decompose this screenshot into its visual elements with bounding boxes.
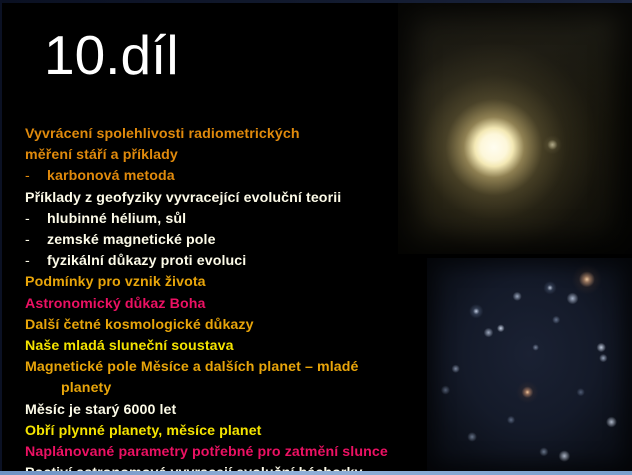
dash-bullet-icon: -	[25, 166, 47, 187]
bullet-line: Další četné kosmologické důkazy	[25, 315, 400, 336]
slide-top-border	[0, 0, 632, 3]
slide-title: 10.díl	[44, 24, 179, 86]
bullet-line: -zemské magnetické pole	[25, 230, 400, 251]
bullet-line-text: Měsíc je starý 6000 let	[25, 402, 176, 418]
bullet-line: měření stáří a příklady	[25, 145, 400, 166]
bullet-line-text: hlubinné hélium, sůl	[47, 211, 186, 227]
bullet-line-text: Vyvrácení spolehlivosti radiometrických	[25, 126, 300, 142]
bullet-line: Naše mladá sluneční soustava	[25, 336, 400, 357]
bullet-line-text: karbonová metoda	[47, 168, 175, 184]
bullet-line-text: Naplánované parametry potřebné pro zatmě…	[25, 444, 388, 460]
bullet-line-text: Obří plynné planety, měsíce planet	[25, 423, 262, 439]
bullet-line-text: zemské magnetické pole	[47, 232, 216, 248]
dash-bullet-icon: -	[25, 209, 47, 230]
presentation-slide: 10.díl Vyvrácení spolehlivosti radiometr…	[0, 0, 632, 475]
bullet-line-text: Další četné kosmologické důkazy	[25, 317, 254, 333]
star-field-photo	[427, 258, 632, 471]
bullet-line: Obří plynné planety, měsíce planet	[25, 421, 400, 442]
bullet-line-text: Naše mladá sluneční soustava	[25, 338, 234, 354]
bright-planet-photo	[398, 0, 632, 254]
slide-left-border	[0, 0, 2, 475]
bullet-line-text: Podmínky pro vznik života	[25, 274, 206, 290]
bullet-line: planety	[25, 378, 400, 399]
bullet-line-text: planety	[61, 380, 111, 396]
bullet-line-text: Astronomický důkaz Boha	[25, 296, 205, 312]
dash-bullet-icon: -	[25, 230, 47, 251]
bullet-line: -fyzikální důkazy proti evoluci	[25, 251, 400, 272]
bullet-line: Měsíc je starý 6000 let	[25, 400, 400, 421]
bullet-line: Naplánované parametry potřebné pro zatmě…	[25, 442, 400, 463]
bullet-line: Astronomický důkaz Boha	[25, 294, 400, 315]
bullet-line: Podmínky pro vznik života	[25, 272, 400, 293]
bullet-line-text: měření stáří a příklady	[25, 147, 178, 163]
bullet-line: -karbonová metoda	[25, 166, 400, 187]
bullet-line: Vyvrácení spolehlivosti radiometrických	[25, 124, 400, 145]
bullet-line: -hlubinné hélium, sůl	[25, 209, 400, 230]
dash-bullet-icon: -	[25, 251, 47, 272]
bullet-line-text: fyzikální důkazy proti evoluci	[47, 253, 246, 269]
bullet-line-text: Magnetické pole Měsíce a dalších planet …	[25, 359, 359, 375]
bullet-line: Příklady z geofyziky vyvracející evolučn…	[25, 188, 400, 209]
bullet-line-text: Příklady z geofyziky vyvracející evolučn…	[25, 190, 341, 206]
bullet-line: Magnetické pole Měsíce a dalších planet …	[25, 357, 400, 378]
slide-bottom-border	[0, 471, 632, 475]
slide-bullet-list: Vyvrácení spolehlivosti radiometrickýchm…	[25, 124, 400, 475]
